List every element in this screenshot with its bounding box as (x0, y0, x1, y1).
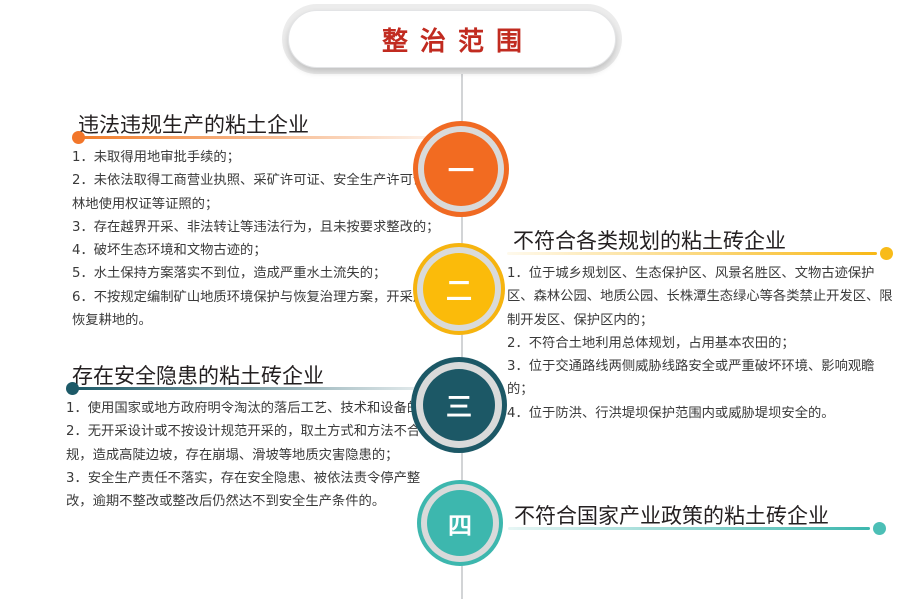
step-badge-1-number: 一 (424, 132, 498, 206)
section-3-item-1: 1．使用国家或地方政府明令淘汰的落后工艺、技术和设备的； (66, 397, 438, 420)
title-pill: 整治范围 (288, 10, 616, 68)
section-3: 存在安全隐患的粘土砖企业 1．使用国家或地方政府明令淘汰的落后工艺、技术和设备的… (66, 365, 438, 513)
step-badge-1: 一 (413, 121, 509, 217)
section-1-item-2: 2．未依法取得工商营业执照、采矿许可证、安全生产许可证、林地使用权证等证照的； (72, 169, 442, 216)
section-1-item-4: 4．破坏生态环境和文物古迹的； (72, 239, 442, 262)
step-badge-2-ring: 二 (417, 247, 501, 331)
section-2-rule (507, 252, 877, 255)
section-1-rule (80, 136, 442, 139)
section-3-body: 1．使用国家或地方政府明令淘汰的落后工艺、技术和设备的； 2．无开采设计或不按设… (66, 397, 438, 513)
page-title: 整治范围 (370, 21, 534, 58)
section-3-header: 存在安全隐患的粘土砖企业 (66, 365, 438, 390)
section-2-item-1: 1．位于城乡规划区、生态保护区、风景名胜区、文物古迹保护区、森林公园、地质公园、… (507, 262, 893, 332)
section-3-item-2: 2．无开采设计或不按设计规范开采的，取土方式和方法不合规，造成高陡边坡，存在崩塌… (66, 420, 438, 467)
section-1: 违法违规生产的粘土企业 1．未取得用地审批手续的； 2．未依法取得工商营业执照、… (72, 114, 442, 332)
step-badge-2-number: 二 (423, 253, 495, 325)
step-badge-4-ring: 四 (421, 484, 499, 562)
section-1-item-6: 6．不按规定编制矿山地质环境保护与恢复治理方案，开采后未恢复耕地的。 (72, 286, 442, 333)
step-badge-1-ring: 一 (418, 126, 504, 212)
infographic-page: 整治范围 一 二 三 四 违法违规生产的粘土企业 1．未取得用地审批手续的； 2… (0, 0, 902, 599)
section-2-item-4: 4．位于防洪、行洪堤坝保护范围内或威胁堤坝安全的。 (507, 402, 893, 425)
section-3-item-3: 3．安全生产责任不落实，存在安全隐患、被依法责令停产整改，逾期不整改或整改后仍然… (66, 467, 438, 514)
section-2-item-2: 2．不符合土地利用总体规划，占用基本农田的； (507, 332, 893, 355)
section-1-dot (72, 131, 85, 144)
step-badge-4-number: 四 (427, 490, 493, 556)
section-1-body: 1．未取得用地审批手续的； 2．未依法取得工商营业执照、采矿许可证、安全生产许可… (72, 146, 442, 332)
section-2-body: 1．位于城乡规划区、生态保护区、风景名胜区、文物古迹保护区、森林公园、地质公园、… (507, 262, 893, 425)
section-2: 不符合各类规划的粘土砖企业 1．位于城乡规划区、生态保护区、风景名胜区、文物古迹… (507, 230, 893, 425)
section-4-header: 不符合国家产业政策的粘土砖企业 (508, 505, 886, 530)
section-3-rule (74, 387, 438, 390)
step-badge-3-ring: 三 (416, 362, 502, 448)
section-4-dot (873, 522, 886, 535)
section-4: 不符合国家产业政策的粘土砖企业 (508, 505, 886, 530)
step-badge-2: 二 (413, 243, 505, 335)
step-badge-4: 四 (417, 480, 503, 566)
section-4-rule (508, 527, 870, 530)
step-badge-3: 三 (411, 357, 507, 453)
section-2-item-3: 3．位于交通路线两侧威胁线路安全或严重破坏环境、影响观瞻的； (507, 355, 893, 402)
section-1-item-1: 1．未取得用地审批手续的； (72, 146, 442, 169)
section-2-dot (880, 247, 893, 260)
section-1-item-3: 3．存在越界开采、非法转让等违法行为，且未按要求整改的； (72, 216, 442, 239)
section-1-header: 违法违规生产的粘土企业 (72, 114, 442, 139)
section-2-header: 不符合各类规划的粘土砖企业 (507, 230, 893, 255)
step-badge-3-number: 三 (423, 369, 495, 441)
section-3-dot (66, 382, 79, 395)
section-1-item-5: 5．水土保持方案落实不到位，造成严重水土流失的； (72, 262, 442, 285)
